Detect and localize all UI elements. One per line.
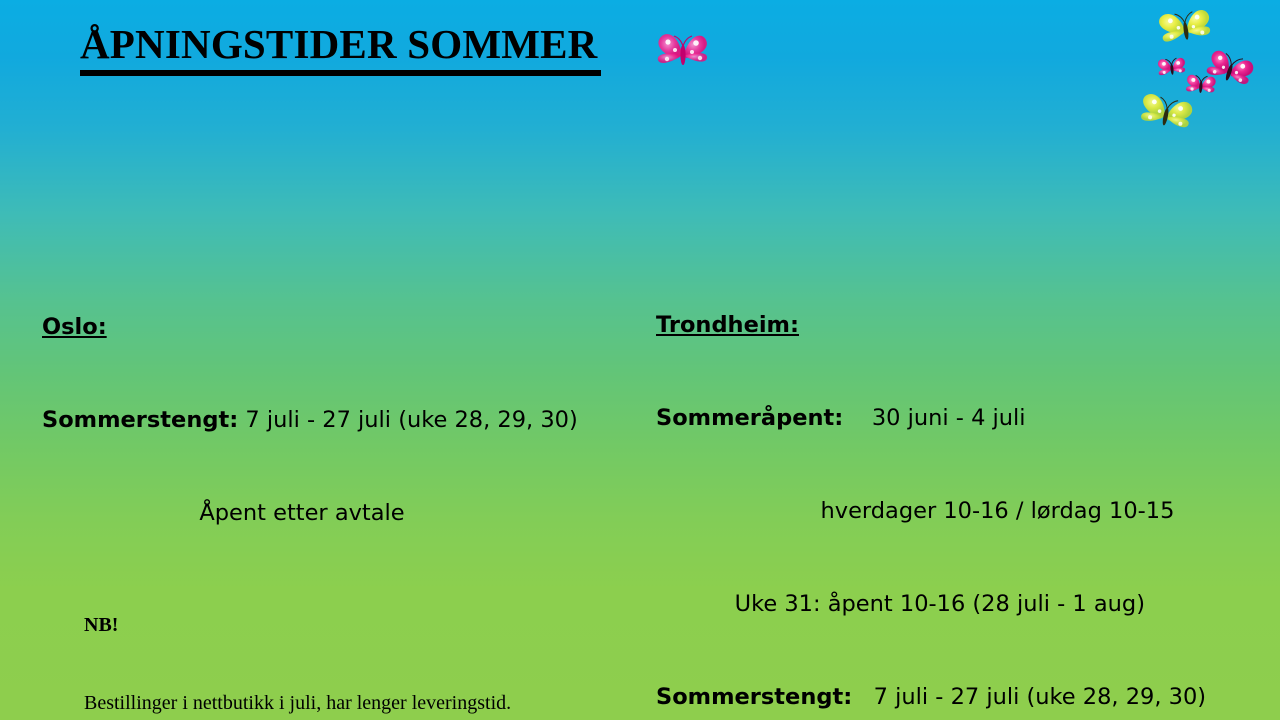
note-line-1: Bestillinger i nettbutikk i juli, har le… bbox=[84, 690, 511, 716]
butterfly-pink-small-icon bbox=[1157, 57, 1186, 76]
butterfly-cluster-icon bbox=[1136, 2, 1280, 134]
butterfly-pink-icon bbox=[648, 28, 718, 84]
section-oslo: Oslo: Sommerstengt: 7 juli - 27 juli (uk… bbox=[42, 250, 662, 591]
trondheim-line-2: hverdager 10-16 / lørdag 10-15 bbox=[656, 496, 1276, 527]
butterfly-yellow-lower-icon bbox=[1139, 92, 1194, 130]
slide-canvas: ÅPNINGSTIDER SOMMER Oslo: Sommerstengt: … bbox=[0, 0, 1280, 720]
butterfly-pink-tiny-icon bbox=[1186, 74, 1216, 94]
oslo-line-1: Sommerstengt: 7 juli - 27 juli (uke 28, … bbox=[42, 405, 662, 436]
city-heading-oslo: Oslo: bbox=[42, 312, 662, 343]
trondheim-line-1: Sommeråpent: 30 juni - 4 juli bbox=[656, 403, 1276, 434]
trondheim-line-3: Uke 31: åpent 10-16 (28 juli - 1 aug) bbox=[656, 589, 1276, 620]
trondheim-line-4: Sommerstengt: 7 juli - 27 juli (uke 28, … bbox=[656, 682, 1276, 713]
city-heading-trondheim: Trondheim: bbox=[656, 310, 1276, 341]
title-block: ÅPNINGSTIDER SOMMER bbox=[80, 22, 640, 76]
section-trondheim: Trondheim: Sommeråpent: 30 juni - 4 juli… bbox=[656, 248, 1276, 720]
oslo-line-2: Åpent etter avtale bbox=[42, 498, 662, 529]
page-title: ÅPNINGSTIDER SOMMER bbox=[80, 22, 640, 66]
note-heading: NB! bbox=[84, 612, 511, 638]
title-underline-rule bbox=[80, 70, 601, 76]
right-column: Trondheim: Sommeråpent: 30 juni - 4 juli… bbox=[656, 124, 1276, 720]
note-block: NB! Bestillinger i nettbutikk i juli, ha… bbox=[84, 560, 511, 720]
butterfly-yellow-icon bbox=[1158, 8, 1212, 43]
